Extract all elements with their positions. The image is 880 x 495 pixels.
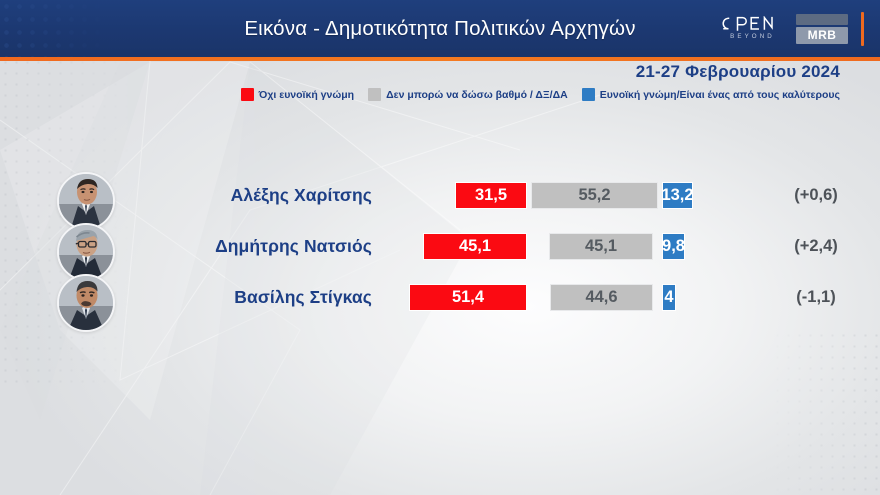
logo-divider bbox=[861, 12, 864, 46]
open-beyond-subtitle: BEYOND bbox=[727, 34, 775, 40]
open-beyond-logo: BEYOND bbox=[719, 16, 783, 40]
legend-label-neutral: Δεν μπορώ να δώσω βαθμό / ΔΞ/ΔΑ bbox=[386, 89, 568, 101]
table-row: Βασίλης Στίγκας 51,4 44,6 4 (-1,1) bbox=[0, 272, 880, 323]
candidate-name: Δημήτρης Νατσιός bbox=[0, 221, 372, 272]
legend-label-positive: Ευνοϊκή γνώμη/Είναι ένας από τους καλύτε… bbox=[600, 89, 840, 101]
logo-group: BEYOND MRB bbox=[719, 0, 864, 57]
stacked-bar-row: 51,4 44,6 4 bbox=[372, 272, 752, 323]
mrb-logo-bar bbox=[796, 14, 848, 25]
mrb-logo: MRB bbox=[796, 14, 848, 44]
delta-value: (+0,6) bbox=[752, 170, 880, 221]
open-wordmark-icon bbox=[719, 16, 783, 31]
table-row: Δημήτρης Νατσιός 45,1 45,1 9,8 (+2,4) bbox=[0, 221, 880, 272]
bar-segment-positive: 4 bbox=[662, 284, 676, 311]
delta-value: (+2,4) bbox=[752, 221, 880, 272]
bar-segment-negative: 31,5 bbox=[455, 182, 527, 209]
candidate-name: Αλέξης Χαρίτσης bbox=[0, 170, 372, 221]
bar-segment-negative: 45,1 bbox=[423, 233, 527, 260]
candidate-name: Βασίλης Στίγκας bbox=[0, 272, 372, 323]
bar-segment-neutral: 45,1 bbox=[549, 233, 653, 260]
poll-rows: Αλέξης Χαρίτσης 31,5 55,2 13,2 (+0,6) bbox=[0, 170, 880, 323]
legend-item-positive: Ευνοϊκή γνώμη/Είναι ένας από τους καλύτε… bbox=[582, 88, 840, 101]
delta-value: (-1,1) bbox=[752, 272, 880, 323]
legend-swatch-negative-icon bbox=[241, 88, 254, 101]
legend-swatch-neutral-icon bbox=[368, 88, 381, 101]
background-dot-pattern-right bbox=[750, 330, 880, 495]
stacked-bar-row: 45,1 45,1 9,8 bbox=[372, 221, 752, 272]
legend-swatch-positive-icon bbox=[582, 88, 595, 101]
bar-segment-positive: 13,2 bbox=[662, 182, 693, 209]
header-accent-line bbox=[0, 57, 880, 61]
date-range-label: 21-27 Φεβρουαρίου 2024 bbox=[636, 62, 840, 82]
bar-segment-neutral: 55,2 bbox=[531, 182, 658, 209]
bar-segment-neutral: 44,6 bbox=[550, 284, 653, 311]
broadcast-poll-graphic: Εικόνα - Δημοτικότητα Πολιτικών Αρχηγών bbox=[0, 0, 880, 495]
stacked-bar-row: 31,5 55,2 13,2 bbox=[372, 170, 752, 221]
legend-item-neutral: Δεν μπορώ να δώσω βαθμό / ΔΞ/ΔΑ bbox=[368, 88, 568, 101]
table-row: Αλέξης Χαρίτσης 31,5 55,2 13,2 (+0,6) bbox=[0, 170, 880, 221]
legend-label-negative: Όχι ευνοϊκή γνώμη bbox=[259, 89, 354, 101]
header-bar: Εικόνα - Δημοτικότητα Πολιτικών Αρχηγών bbox=[0, 0, 880, 57]
legend: Όχι ευνοϊκή γνώμη Δεν μπορώ να δώσω βαθμ… bbox=[241, 88, 840, 101]
mrb-logo-text: MRB bbox=[796, 27, 848, 44]
bar-segment-negative: 51,4 bbox=[409, 284, 527, 311]
bar-segment-positive: 9,8 bbox=[662, 233, 685, 260]
legend-item-negative: Όχι ευνοϊκή γνώμη bbox=[241, 88, 354, 101]
